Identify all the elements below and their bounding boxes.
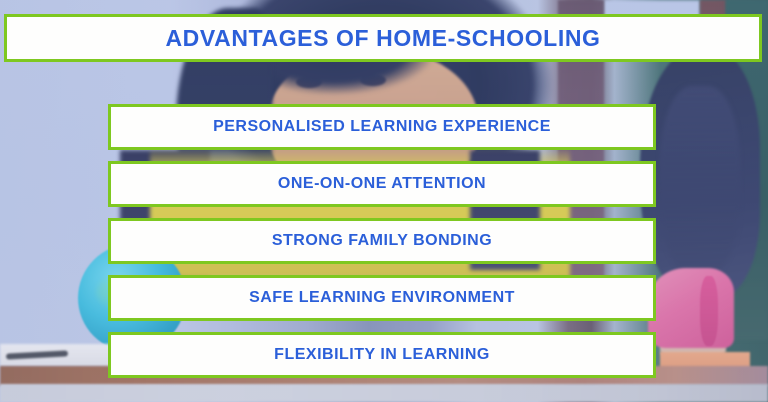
- list-item-label: ONE-ON-ONE ATTENTION: [278, 175, 486, 193]
- poster-title: ADVANTAGES OF HOME-SCHOOLING: [165, 25, 600, 52]
- list-item-label: FLEXIBILITY IN LEARNING: [274, 346, 490, 364]
- list-item-label: STRONG FAMILY BONDING: [272, 232, 492, 250]
- title-banner: ADVANTAGES OF HOME-SCHOOLING: [4, 14, 762, 62]
- list-item: PERSONALISED LEARNING EXPERIENCE: [108, 104, 656, 150]
- list-item-label: PERSONALISED LEARNING EXPERIENCE: [213, 118, 551, 136]
- list-item: FLEXIBILITY IN LEARNING: [108, 332, 656, 378]
- list-item: STRONG FAMILY BONDING: [108, 218, 656, 264]
- list-item: SAFE LEARNING ENVIRONMENT: [108, 275, 656, 321]
- list-item: ONE-ON-ONE ATTENTION: [108, 161, 656, 207]
- poster-canvas: ADVANTAGES OF HOME-SCHOOLING PERSONALISE…: [0, 0, 768, 402]
- list-item-label: SAFE LEARNING ENVIRONMENT: [249, 289, 515, 307]
- advantages-list: PERSONALISED LEARNING EXPERIENCE ONE-ON-…: [108, 104, 656, 378]
